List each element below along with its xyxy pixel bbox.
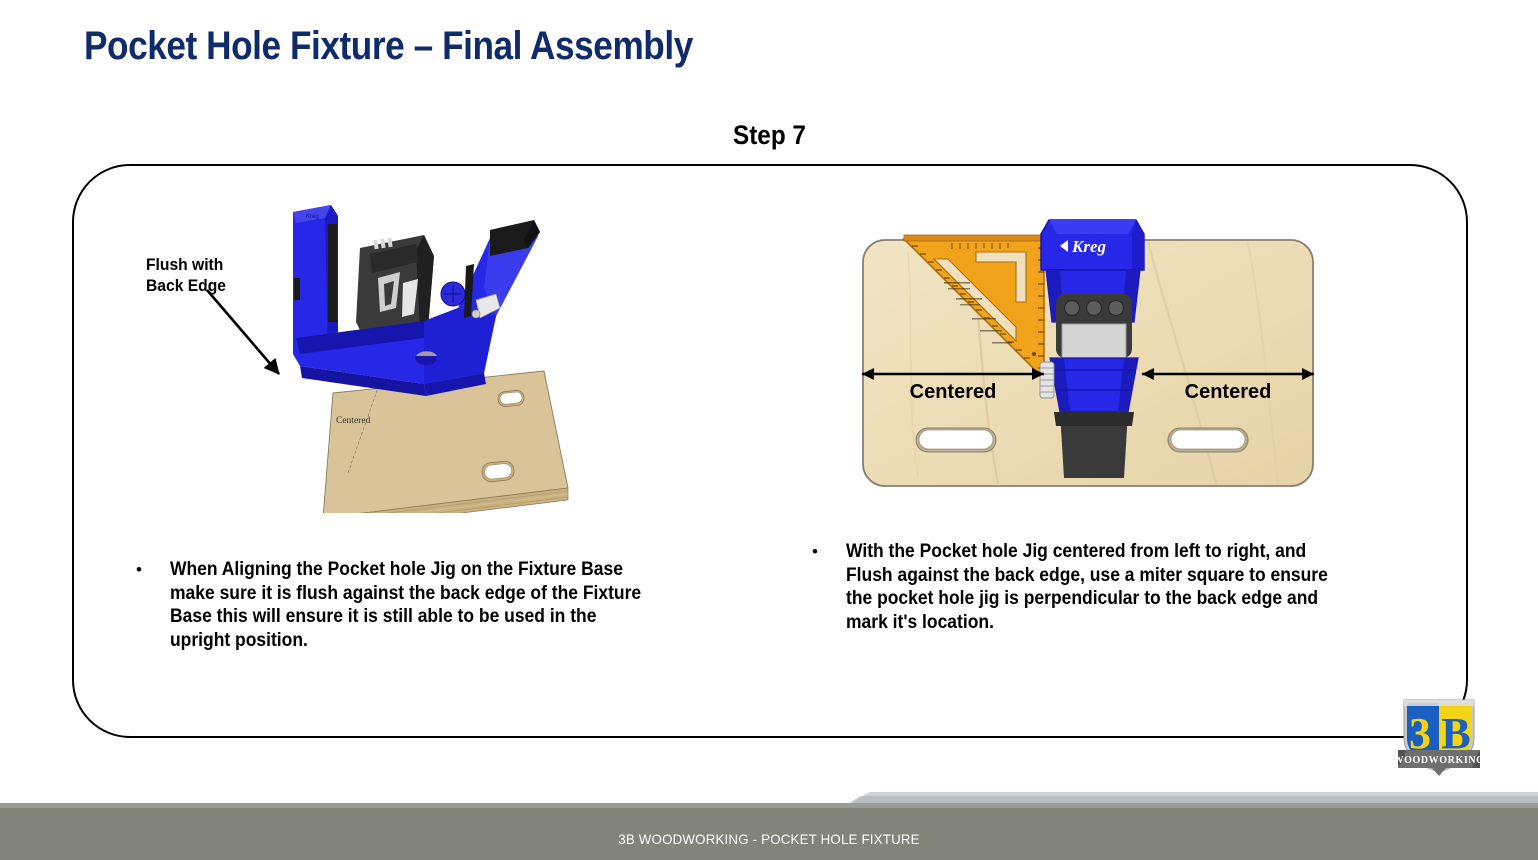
brand-logo: 3 B WOODWORKING [1396,686,1482,782]
page-title: Pocket Hole Fixture – Final Assembly [84,24,693,69]
left-bullet-text: When Aligning the Pocket hole Jig on the… [170,558,654,652]
step-heading: Step 7 [733,120,806,151]
centered-label-right: Centered [1185,381,1272,403]
annotation-line-1: Flush with [146,254,226,275]
mounting-slot-upper [497,390,524,408]
right-bullet-text: With the Pocket hole Jig centered from l… [846,540,1330,634]
footer-text: 3B WOODWORKING - POCKET HOLE FIXTURE [38,831,1499,847]
centered-label-left: Centered [910,381,997,403]
plywood-base: Centered [323,371,568,513]
bullet-marker: • [136,558,170,582]
svg-text:Kreg: Kreg [1071,237,1107,256]
logo-banner-text: WOODWORKING [1396,755,1482,766]
left-bullet-item: • When Aligning the Pocket hole Jig on t… [136,558,696,652]
footer-bar-highlight [0,803,1538,808]
mounting-slot-lower [481,460,515,482]
right-assembly-render: Kreg Centered [848,212,1328,497]
svg-text:Kreg: Kreg [306,214,319,220]
centered-label-left: Centered [336,416,371,426]
right-bullet-item: • With the Pocket hole Jig centered from… [812,540,1372,634]
mounting-slot-right [1168,428,1248,452]
mounting-slot-left [916,428,996,452]
kreg-logo-icon: Kreg [1057,235,1129,257]
left-assembly-render: Centered Kreg [228,188,576,513]
bullet-marker: • [812,540,846,564]
